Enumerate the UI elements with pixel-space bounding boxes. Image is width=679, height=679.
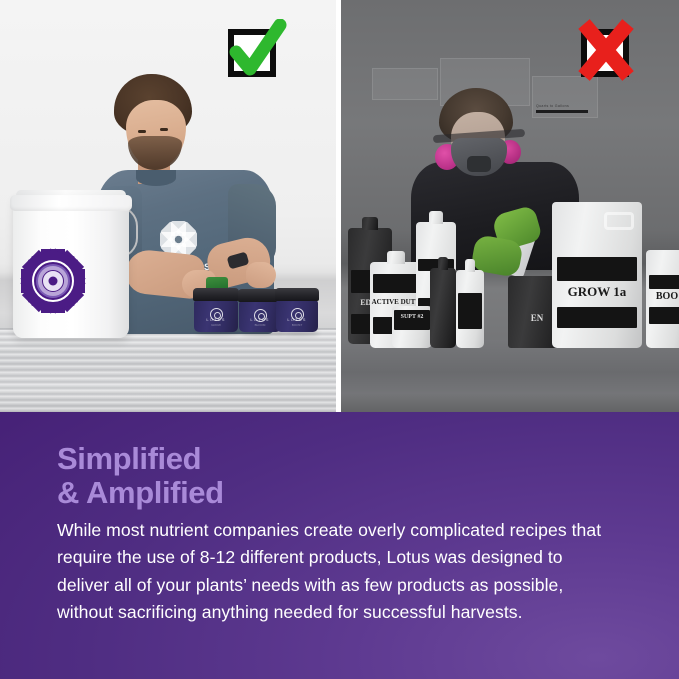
hand-right — [246, 262, 276, 288]
red-x-badge — [577, 23, 635, 81]
bad-example-photo: Quarts to Gallons EDIT — [340, 0, 679, 412]
check-mark-icon — [226, 19, 288, 81]
jar-variant: GROW — [194, 323, 238, 327]
good-example-photo: L O T U S PLANT NUTRIENTS — [0, 0, 340, 412]
floor — [340, 340, 679, 412]
headline-line-1: Simplified — [57, 442, 617, 476]
product-benefit-infographic: L O T U S PLANT NUTRIENTS — [0, 0, 679, 679]
container-boo: BOO — [646, 250, 679, 348]
wood-table-surface — [0, 330, 340, 412]
tshirt-collar — [136, 170, 176, 186]
jar-variant: BOOST — [276, 323, 318, 327]
jar-wordmark: LOTUS — [276, 317, 318, 322]
eye-left — [138, 130, 146, 133]
page-title: Simplified & Amplified — [57, 442, 617, 510]
headline-line-2: & Amplified — [57, 476, 617, 510]
body-paragraph: While most nutrient companies create ove… — [57, 517, 617, 627]
x-mark-icon — [574, 18, 638, 82]
body-copy: While most nutrient companies create ove… — [57, 517, 617, 627]
container-narrow-white — [456, 270, 484, 348]
container-grow-1a: GROW 1a — [552, 202, 642, 348]
container-label: ACTIVE DUTY — [370, 298, 422, 306]
lotus-jar-3: LOTUS BOOST — [276, 288, 318, 332]
jar-wordmark: LOTUS — [194, 317, 238, 322]
photo-comparison-strip: L O T U S PLANT NUTRIENTS — [0, 0, 679, 412]
jar-wordmark: LOTUS — [239, 317, 281, 322]
container-label: BOO — [646, 291, 679, 302]
container-label: SUPT #2 — [392, 314, 432, 320]
jar-variant: BLOOM — [239, 323, 281, 327]
beard — [128, 136, 182, 170]
green-check-badge — [228, 23, 284, 79]
panel-divider — [336, 0, 341, 412]
container-small-dark — [430, 268, 456, 348]
lotus-mandala-logo-icon — [19, 247, 87, 315]
lotus-jar-1: LOTUS GROW — [194, 288, 238, 332]
container-supt: SUPT #2 — [392, 306, 432, 348]
container-label: GROW 1a — [552, 284, 642, 300]
eye-right — [160, 128, 168, 131]
